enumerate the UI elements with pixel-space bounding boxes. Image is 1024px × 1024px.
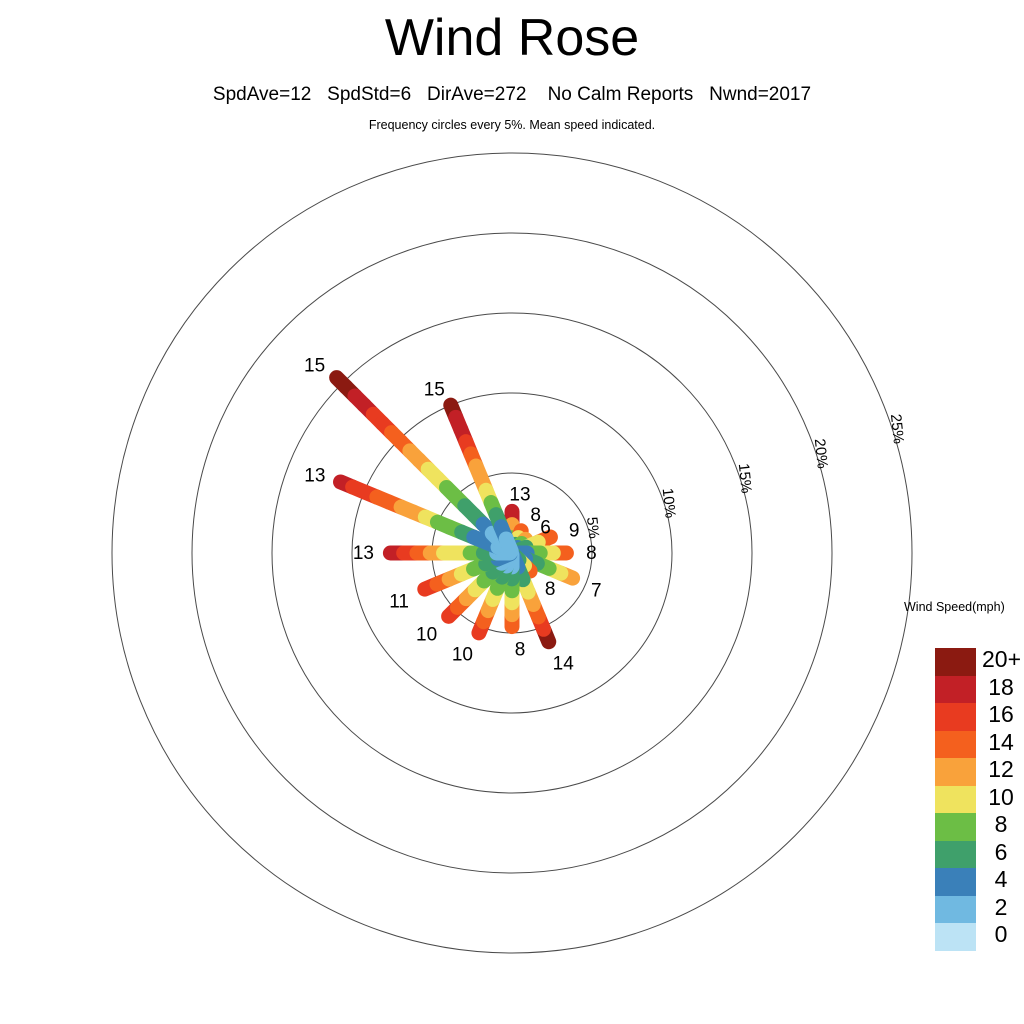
legend-colorbar: 20+181614121086420 (935, 648, 976, 951)
petal-mean-speed-label: 15 (304, 356, 325, 377)
legend-swatch (935, 731, 976, 759)
legend-label: 0 (982, 920, 1020, 948)
legend-row: 0 (935, 923, 976, 951)
petal-mean-speed-label: 10 (416, 624, 437, 645)
legend-swatch (935, 868, 976, 896)
legend-swatch (935, 648, 976, 676)
petal-mean-speed-label: 10 (452, 645, 473, 666)
ring-label: 10% (659, 487, 679, 519)
legend-label: 4 (982, 865, 1020, 893)
legend-label: 18 (982, 673, 1020, 701)
legend-row: 4 (935, 868, 976, 896)
legend-row: 10 (935, 786, 976, 814)
legend-swatch (935, 841, 976, 869)
legend-label: 14 (982, 728, 1020, 756)
legend-row: 8 (935, 813, 976, 841)
legend-row: 18 (935, 676, 976, 704)
rose-center-point (508, 549, 516, 557)
petal-mean-speed-label: 7 (591, 581, 602, 602)
legend-label: 20+ (982, 645, 1024, 673)
legend-swatch (935, 786, 976, 814)
petal-mean-speed-label: 11 (389, 592, 409, 613)
ring-labels: 5%10%15%20%25% (583, 413, 907, 539)
legend-label: 16 (982, 700, 1020, 728)
ring-label: 20% (811, 438, 831, 470)
ring-label: 25% (887, 413, 907, 445)
legend-swatch (935, 896, 976, 924)
legend-row: 16 (935, 703, 976, 731)
ring-label: 5% (583, 516, 602, 539)
legend: Wind Speed(mph) 20+181614121086420 (896, 600, 1024, 644)
legend-row: 20+ (935, 648, 976, 676)
legend-label: 8 (982, 810, 1020, 838)
petal-mean-speed-label: 6 (540, 517, 551, 538)
legend-label: 6 (982, 838, 1020, 866)
wind-rose-page: Wind Rose SpdAve=12 SpdStd=6 DirAve=272 … (0, 0, 1024, 1024)
legend-swatch (935, 813, 976, 841)
ring-label: 15% (735, 463, 755, 495)
petal-mean-speed-label: 13 (353, 543, 374, 564)
legend-swatch (935, 923, 976, 951)
petal-mean-speed-label: 13 (509, 484, 530, 505)
petal-mean-speed-label: 8 (515, 640, 526, 661)
legend-row: 12 (935, 758, 976, 786)
legend-label: 12 (982, 755, 1020, 783)
legend-swatch (935, 676, 976, 704)
wind-rose-plot: 5%10%15%20%25% 1386987814810101113131515 (0, 0, 1024, 1024)
petal-mean-speed-label: 9 (569, 521, 580, 542)
petal-mean-speed-label: 14 (553, 653, 575, 674)
petal-mean-speed-label: 13 (304, 465, 325, 486)
petal-mean-speed-label: 8 (545, 579, 556, 600)
legend-swatch (935, 758, 976, 786)
legend-row: 14 (935, 731, 976, 759)
petal-mean-speed-label: 8 (586, 543, 597, 564)
legend-label: 10 (982, 783, 1020, 811)
petal-mean-speed-label: 15 (424, 379, 445, 400)
legend-title: Wind Speed(mph) (904, 600, 1024, 614)
legend-swatch (935, 703, 976, 731)
wind-petal (337, 378, 511, 552)
legend-label: 2 (982, 893, 1020, 921)
legend-row: 6 (935, 841, 976, 869)
legend-row: 2 (935, 896, 976, 924)
